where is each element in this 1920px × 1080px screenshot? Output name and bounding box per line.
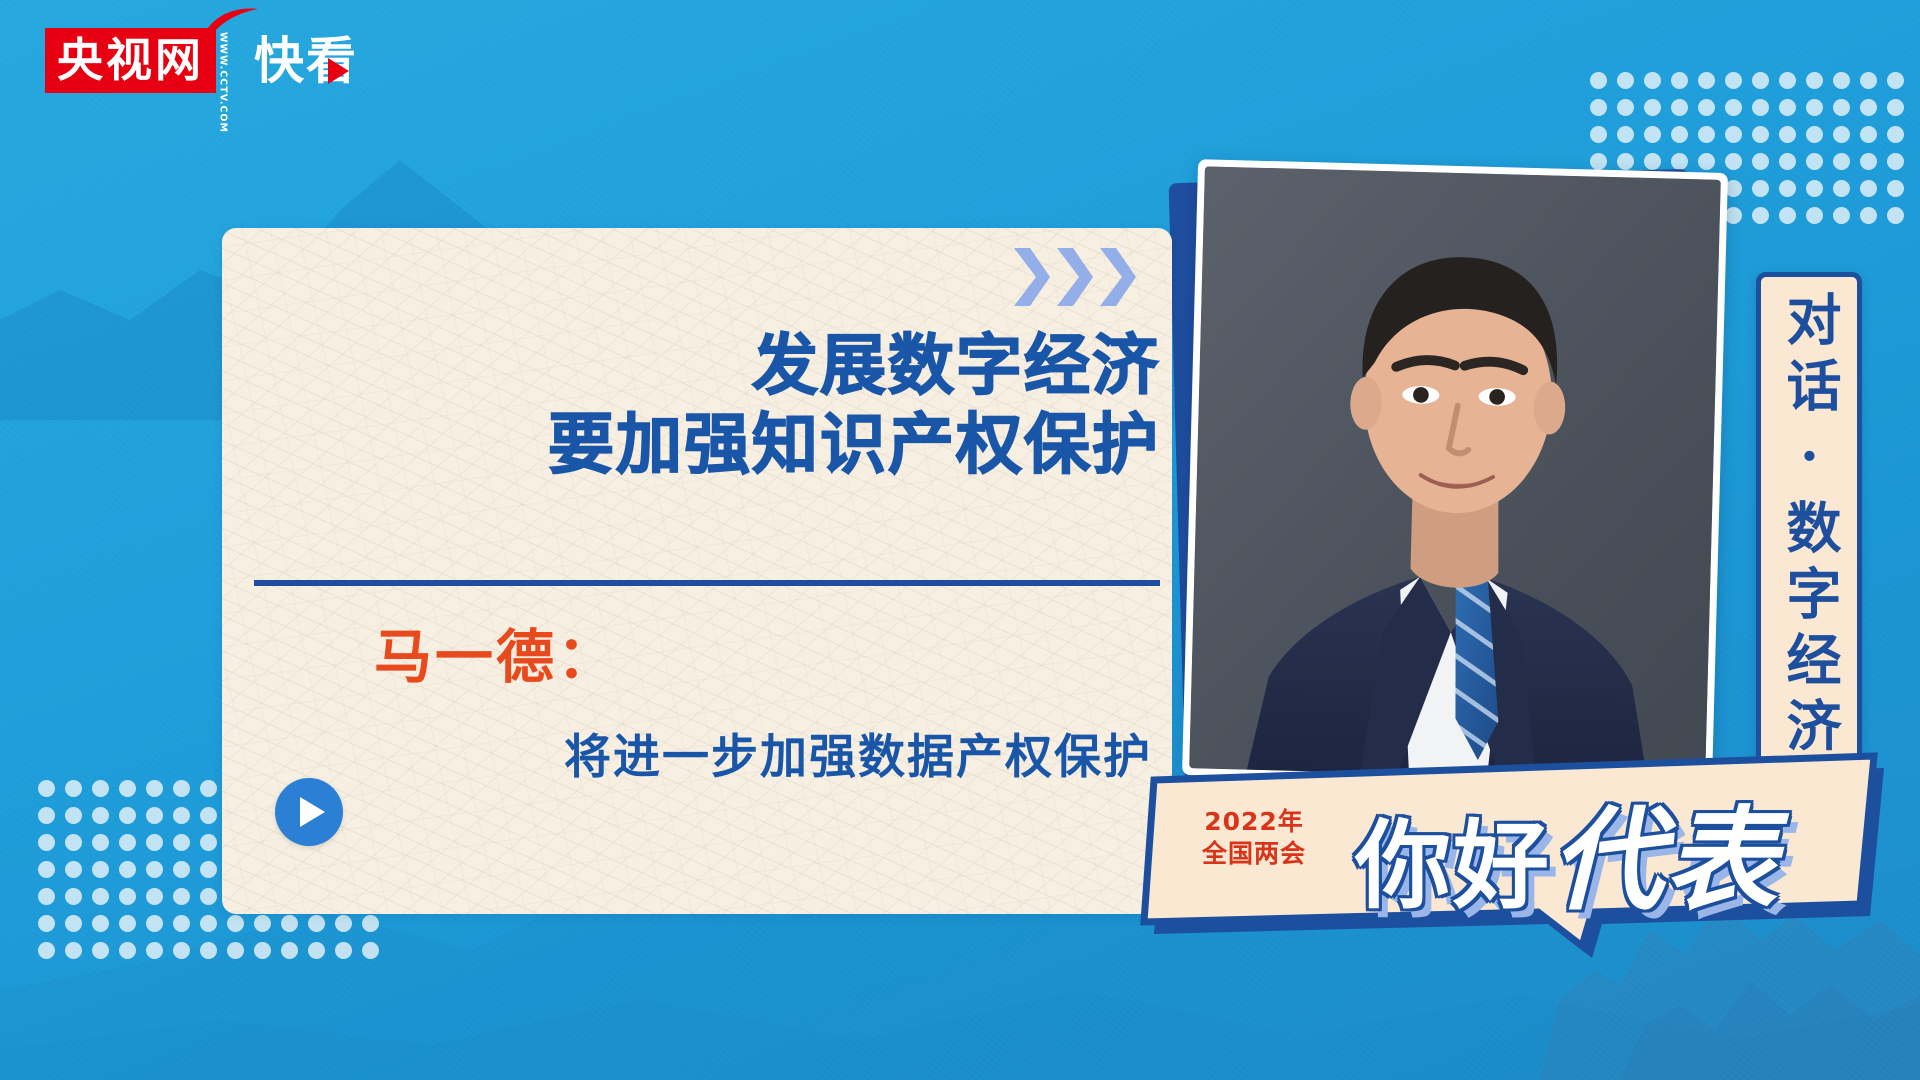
dot [146,834,163,851]
dot [1779,72,1796,89]
dot [1671,126,1688,143]
dot [65,834,82,851]
dot [362,942,379,959]
title-divider [254,580,1160,586]
dot [1779,153,1796,170]
dot [146,780,163,797]
series-banner-text: 对话·数字经济 [1769,291,1849,763]
dot [119,861,136,878]
dot [119,834,136,851]
dot [119,915,136,932]
dot [173,834,190,851]
dot [200,942,217,959]
dot [92,915,109,932]
dot [146,807,163,824]
dot [119,807,136,824]
dot [38,915,55,932]
dot [200,888,217,905]
dot [1617,153,1634,170]
dot [200,861,217,878]
dot [1590,153,1607,170]
dot [1887,207,1904,224]
dot [146,888,163,905]
subtitle-text: 将进一步加强数据产权保护 [564,718,1152,787]
chevron-group [1012,248,1136,306]
dot [1644,72,1661,89]
dot [119,780,136,797]
dot [1752,126,1769,143]
dot [119,888,136,905]
badge-year: 2022年 [1202,806,1306,838]
speaker-name: 马一德： [374,610,618,694]
dot [1698,126,1715,143]
dot [1644,99,1661,116]
dot [1779,180,1796,197]
dot [1752,99,1769,116]
dot [92,888,109,905]
dot [65,888,82,905]
cctv-logo-text: 央视网 [57,33,204,87]
dot [1806,126,1823,143]
dot [1698,72,1715,89]
dot [173,780,190,797]
dot [1806,153,1823,170]
badge-title-part2: 代表 [1551,796,1779,926]
dot [38,807,55,824]
chevron-right-icon [1098,248,1136,306]
chevron-right-icon [1012,248,1050,306]
dot [92,807,109,824]
dot [1779,99,1796,116]
portrait-illustration [1189,166,1721,781]
dot [1590,72,1607,89]
dot [1887,99,1904,116]
dot [92,834,109,851]
dot [173,888,190,905]
dot [1617,99,1634,116]
dot [173,861,190,878]
dot [1617,72,1634,89]
dot [281,915,298,932]
dot [1725,72,1742,89]
portrait-photo [1189,166,1721,781]
dot [92,780,109,797]
title-line-1: 发展数字经济 [548,326,1160,405]
dot [1617,126,1634,143]
dot [65,942,82,959]
dot [254,915,271,932]
play-button[interactable] [275,778,343,846]
dot [1752,72,1769,89]
dot [254,942,271,959]
dot [65,915,82,932]
dot [1860,153,1877,170]
cctv-logo[interactable]: 央视网 WWW.CCTV.COM 快看 [45,28,349,102]
dot [1590,126,1607,143]
cctv-url-text: WWW.CCTV.COM [218,32,228,133]
poster-canvas: 央视网 WWW.CCTV.COM 快看 [0,0,1920,1080]
status-badge: 2022年 全国两会 你好代表 [1140,748,1900,960]
dot [146,861,163,878]
dot [1887,180,1904,197]
dot [1725,99,1742,116]
dot [1752,180,1769,197]
title-line-2: 要加强知识产权保护 [548,405,1160,484]
dot [1779,126,1796,143]
dot [227,915,244,932]
dot [1752,153,1769,170]
dot [1725,126,1742,143]
dot [335,915,352,932]
dot [1806,99,1823,116]
page-title: 发展数字经济 要加强知识产权保护 [548,326,1160,484]
dot [362,915,379,932]
dot [1860,207,1877,224]
dot [1833,153,1850,170]
dot [200,834,217,851]
cctv-logo-box: 央视网 WWW.CCTV.COM [45,28,216,93]
dot [1752,207,1769,224]
dot [1887,72,1904,89]
dot [308,915,325,932]
dot [173,915,190,932]
dot [1833,207,1850,224]
avatar [1182,159,1728,789]
series-banner: 对话·数字经济 [1756,272,1862,782]
dot [1671,99,1688,116]
dot [1833,180,1850,197]
dot [1779,207,1796,224]
dot [1887,153,1904,170]
badge-title-part1: 你好 [1355,810,1551,922]
swoosh-icon [200,6,260,40]
dot [38,888,55,905]
chevron-right-icon [1055,248,1093,306]
dot [281,942,298,959]
dot [38,780,55,797]
dot [1725,153,1742,170]
dot [1806,180,1823,197]
dot [1590,99,1607,116]
dot [308,942,325,959]
dot [1833,99,1850,116]
badge-title: 你好代表 [1355,770,1779,932]
dot [335,942,352,959]
badge-label: 2022年 全国两会 [1202,806,1306,870]
dot [1644,126,1661,143]
headline-card: 发展数字经济 要加强知识产权保护 马一德： 将进一步加强数据产权保护 [222,228,1172,914]
badge-event: 全国两会 [1202,838,1306,870]
dot [146,942,163,959]
dot [1806,207,1823,224]
dot [173,807,190,824]
kuaikan-label: 快看 [254,36,349,86]
dot [1860,126,1877,143]
dot [65,861,82,878]
dot [1833,72,1850,89]
dot [65,807,82,824]
dot [1887,126,1904,143]
dot [1671,153,1688,170]
dot [119,942,136,959]
dot [92,942,109,959]
dot [92,861,109,878]
dot [1698,153,1715,170]
dot [200,780,217,797]
dot [38,834,55,851]
dot [200,807,217,824]
dot [38,861,55,878]
dot [227,942,244,959]
dot [146,915,163,932]
dot [1698,99,1715,116]
dot [173,942,190,959]
play-triangle-icon [328,58,349,84]
dot [1644,153,1661,170]
dot [38,942,55,959]
dot [1833,126,1850,143]
dot [1671,72,1688,89]
dot [1725,207,1742,224]
dot [1860,180,1877,197]
dot [1806,72,1823,89]
dot [65,780,82,797]
dot [200,915,217,932]
dot [1860,99,1877,116]
dot [1860,72,1877,89]
play-icon [300,797,325,827]
